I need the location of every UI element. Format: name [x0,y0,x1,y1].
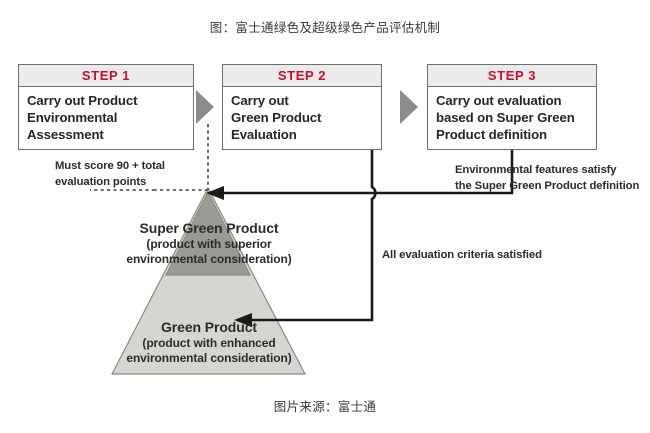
green-product-subtitle-1: (product with enhanced [78,336,340,351]
step-1-line-2: Environmental [27,110,185,127]
step-3-line-1: Carry out evaluation [436,93,588,110]
step-3-line-2: based on Super Green [436,110,588,127]
annotation-must-score: Must score 90 + total evaluation points [55,158,215,190]
step-2-line-2: Green Product [231,110,373,127]
step-box-2[interactable]: STEP 2 Carry out Green Product Evaluatio… [222,64,382,150]
step-2-to-3-arrow-icon [400,90,418,124]
step-2-line-1: Carry out [231,93,373,110]
annotation-must-score-line-2: evaluation points [55,174,215,190]
step-1-line-1: Carry out Product [27,93,185,110]
super-green-product-label: Super Green Product (product with superi… [78,219,340,267]
step-1-body: Carry out Product Environmental Assessme… [19,87,193,148]
annotation-environmental-features-line-2: the Super Green Product definition [455,178,645,194]
step-2-header: STEP 2 [223,65,381,87]
step-3-header: STEP 3 [428,65,596,87]
step-1-to-2-arrow-icon [196,90,214,124]
step-box-3[interactable]: STEP 3 Carry out evaluation based on Sup… [427,64,597,150]
annotation-environmental-features: Environmental features satisfy the Super… [455,162,645,194]
step-3-body: Carry out evaluation based on Super Gree… [428,87,596,148]
step-2-body: Carry out Green Product Evaluation [223,87,381,148]
figure-title: 图：富士通绿色及超级绿色产品评估机制 [0,17,650,36]
green-product-subtitle-2: environmental consideration) [78,351,340,366]
step-3-line-3: Product definition [436,127,588,144]
figure-source: 图片来源：富士通 [0,396,650,415]
green-product-title: Green Product [78,318,340,336]
step-box-1[interactable]: STEP 1 Carry out Product Environmental A… [18,64,194,150]
annotation-all-criteria: All evaluation criteria satisfied [382,247,582,263]
step-1-line-3: Assessment [27,127,185,144]
annotation-all-criteria-line-1: All evaluation criteria satisfied [382,247,582,263]
green-product-label: Green Product (product with enhanced env… [78,318,340,366]
super-green-product-subtitle-1: (product with superior [78,237,340,252]
step-2-line-3: Evaluation [231,127,373,144]
annotation-environmental-features-line-1: Environmental features satisfy [455,162,645,178]
super-green-product-title: Super Green Product [78,219,340,237]
super-green-product-subtitle-2: environmental consideration) [78,252,340,267]
step-1-header: STEP 1 [19,65,193,87]
annotation-must-score-line-1: Must score 90 + total [55,158,215,174]
diagram-root: 图：富士通绿色及超级绿色产品评估机制 STEP 1 Carry out Prod… [0,0,650,433]
